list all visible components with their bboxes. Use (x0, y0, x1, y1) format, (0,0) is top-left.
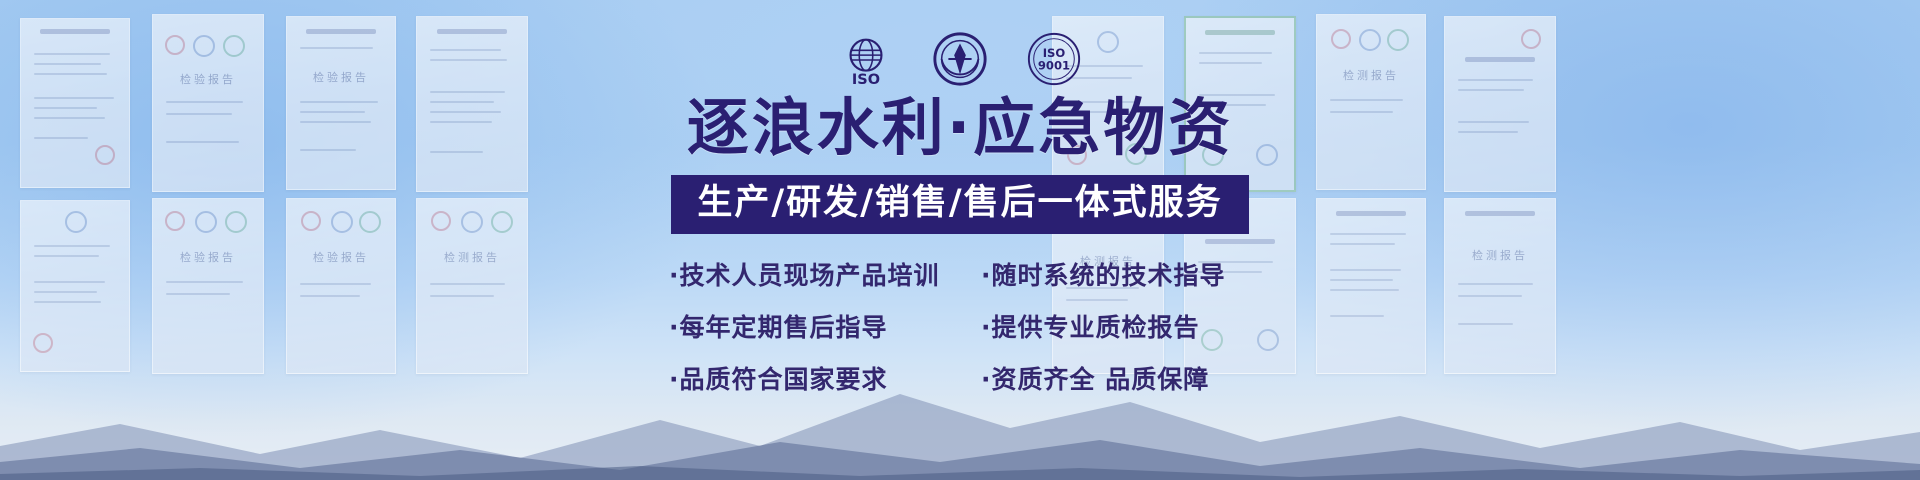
page-title: 逐浪水利·应急物资 (0, 92, 1920, 163)
subtitle-bar: 生产/研发/销售/售后一体式服务 (671, 175, 1248, 233)
svg-text:9001: 9001 (1038, 59, 1070, 73)
banner-content: 逐浪水利·应急物资 生产/研发/销售/售后一体式服务 ·技术人员现场产品培训 ·… (0, 92, 1920, 396)
feature-item: ·每年定期售后指导 (669, 308, 959, 344)
feature-item: ·品质符合国家要求 (669, 360, 959, 396)
feature-item: ·随时系统的技术指导 (981, 256, 1251, 292)
certification-badges: ISO ISO 9001 (0, 30, 1920, 88)
feature-item: ·资质齐全 品质保障 (981, 360, 1251, 396)
iso-9001-badge: ISO 9001 (1025, 30, 1083, 88)
svg-text:ISO: ISO (852, 72, 880, 88)
quality-seal-badge (931, 30, 989, 88)
feature-item: ·技术人员现场产品培训 (669, 256, 959, 292)
feature-list: ·技术人员现场产品培训 ·随时系统的技术指导 ·每年定期售后指导 ·提供专业质检… (669, 256, 1251, 396)
feature-item: ·提供专业质检报告 (981, 308, 1251, 344)
iso-badge: ISO (837, 30, 895, 88)
subtitle-container: 生产/研发/销售/售后一体式服务 (0, 175, 1920, 233)
promo-banner: 检验报告 检验报告 (0, 0, 1920, 480)
